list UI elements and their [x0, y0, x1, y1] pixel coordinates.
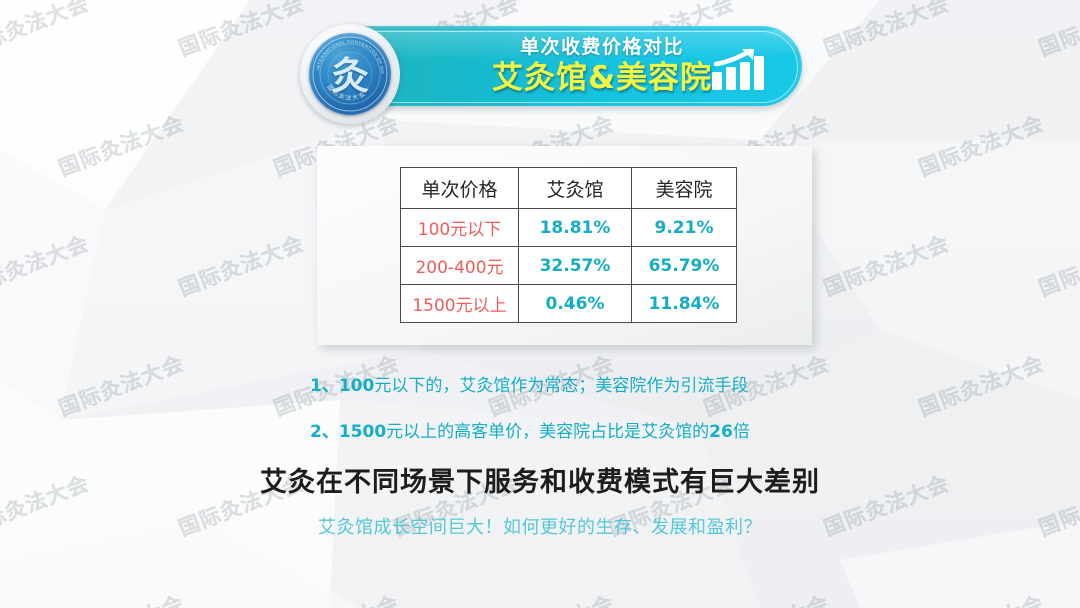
table-header-cell-moxibustion: 艾灸馆 [519, 168, 632, 209]
bullet-2-tail: 倍 [733, 422, 750, 442]
watermark-text: 国际灸法大会 [174, 227, 308, 302]
bullet-2-tail-number: 26 [709, 422, 733, 442]
price-comparison-table: 单次价格 艾灸馆 美容院 100元以下 18.81% 9.21% 200-400… [400, 167, 737, 323]
bullet-line-1: 1、100元以下的，艾灸馆作为常态；美容院作为引流手段 [310, 371, 748, 396]
conference-logo: INTERNATIONAL CONVENTION OF MOXIBUSTION … [300, 24, 400, 124]
watermark-text: 国际灸法大会 [914, 587, 1048, 608]
bar-chart-up-icon [710, 48, 772, 92]
cell-moxibustion-value: 18.81% [519, 209, 632, 247]
watermark-text: 国际灸法大会 [0, 227, 93, 302]
header-banner: 单次收费价格对比 艾灸馆&美容院 [300, 26, 802, 106]
cell-price-range: 1500元以上 [401, 285, 519, 323]
banner-title: 艾灸馆&美容院 [472, 63, 732, 94]
watermark-text: 国际灸法大会 [819, 227, 953, 302]
bullet-1-number: 1、 [310, 376, 339, 396]
cell-beauty-value: 9.21% [632, 209, 737, 247]
banner-text-block: 单次收费价格对比 艾灸馆&美容院 [472, 34, 732, 94]
banner-subtitle: 单次收费价格对比 [472, 38, 732, 57]
cell-moxibustion-value: 32.57% [519, 247, 632, 285]
watermark-text: 国际灸法大会 [269, 587, 403, 608]
slide-canvas: 国际灸法大会国际灸法大会国际灸法大会国际灸法大会国际灸法大会国际灸法大会国际灸法… [0, 0, 1080, 608]
watermark-text: 国际灸法大会 [819, 0, 953, 63]
bullet-1-text: 元以下的，艾灸馆作为常态；美容院作为引流手段 [374, 376, 748, 396]
table-row: 200-400元 32.57% 65.79% [401, 247, 737, 285]
conclusion-text: 艾灸在不同场景下服务和收费模式有巨大差别 [0, 460, 1080, 499]
watermark-text: 国际灸法大会 [484, 587, 618, 608]
table-header-row: 单次价格 艾灸馆 美容院 [401, 168, 737, 209]
watermark-text: 国际灸法大会 [1034, 0, 1080, 63]
cell-beauty-value: 11.84% [632, 285, 737, 323]
table-header-cell-beauty: 美容院 [632, 168, 737, 209]
watermark-text: 国际灸法大会 [914, 347, 1048, 422]
table-row: 100元以下 18.81% 9.21% [401, 209, 737, 247]
bullet-1-lead: 100 [339, 376, 375, 396]
cell-price-range: 100元以下 [401, 209, 519, 247]
table-card: 单次价格 艾灸馆 美容院 100元以下 18.81% 9.21% 200-400… [317, 146, 812, 345]
watermark-text: 国际灸法大会 [54, 107, 188, 182]
conference-logo-disc: INTERNATIONAL CONVENTION OF MOXIBUSTION … [309, 33, 391, 115]
watermark-text: 国际灸法大会 [1034, 227, 1080, 302]
watermark-text: 国际灸法大会 [0, 0, 93, 63]
watermark-text: 国际灸法大会 [54, 587, 188, 608]
cell-moxibustion-value: 0.46% [519, 285, 632, 323]
watermark-text: 国际灸法大会 [699, 587, 833, 608]
bullet-2-number: 2、 [310, 422, 339, 442]
bullet-line-2: 2、1500元以上的高客单价，美容院占比是艾灸馆的26倍 [310, 417, 750, 442]
logo-character: 灸 [309, 33, 391, 115]
table-header-cell-price: 单次价格 [401, 168, 519, 209]
watermark-text: 国际灸法大会 [174, 0, 308, 63]
watermark-text: 国际灸法大会 [54, 347, 188, 422]
cell-beauty-value: 65.79% [632, 247, 737, 285]
cell-price-range: 200-400元 [401, 247, 519, 285]
watermark-text: 国际灸法大会 [914, 107, 1048, 182]
bullet-2-text: 元以上的高客单价，美容院占比是艾灸馆的 [386, 422, 709, 442]
subnote-text: 艾灸馆成长空间巨大！如何更好的生存、发展和盈利？ [0, 513, 1080, 539]
bullet-2-lead: 1500 [339, 422, 386, 442]
table-row: 1500元以上 0.46% 11.84% [401, 285, 737, 323]
